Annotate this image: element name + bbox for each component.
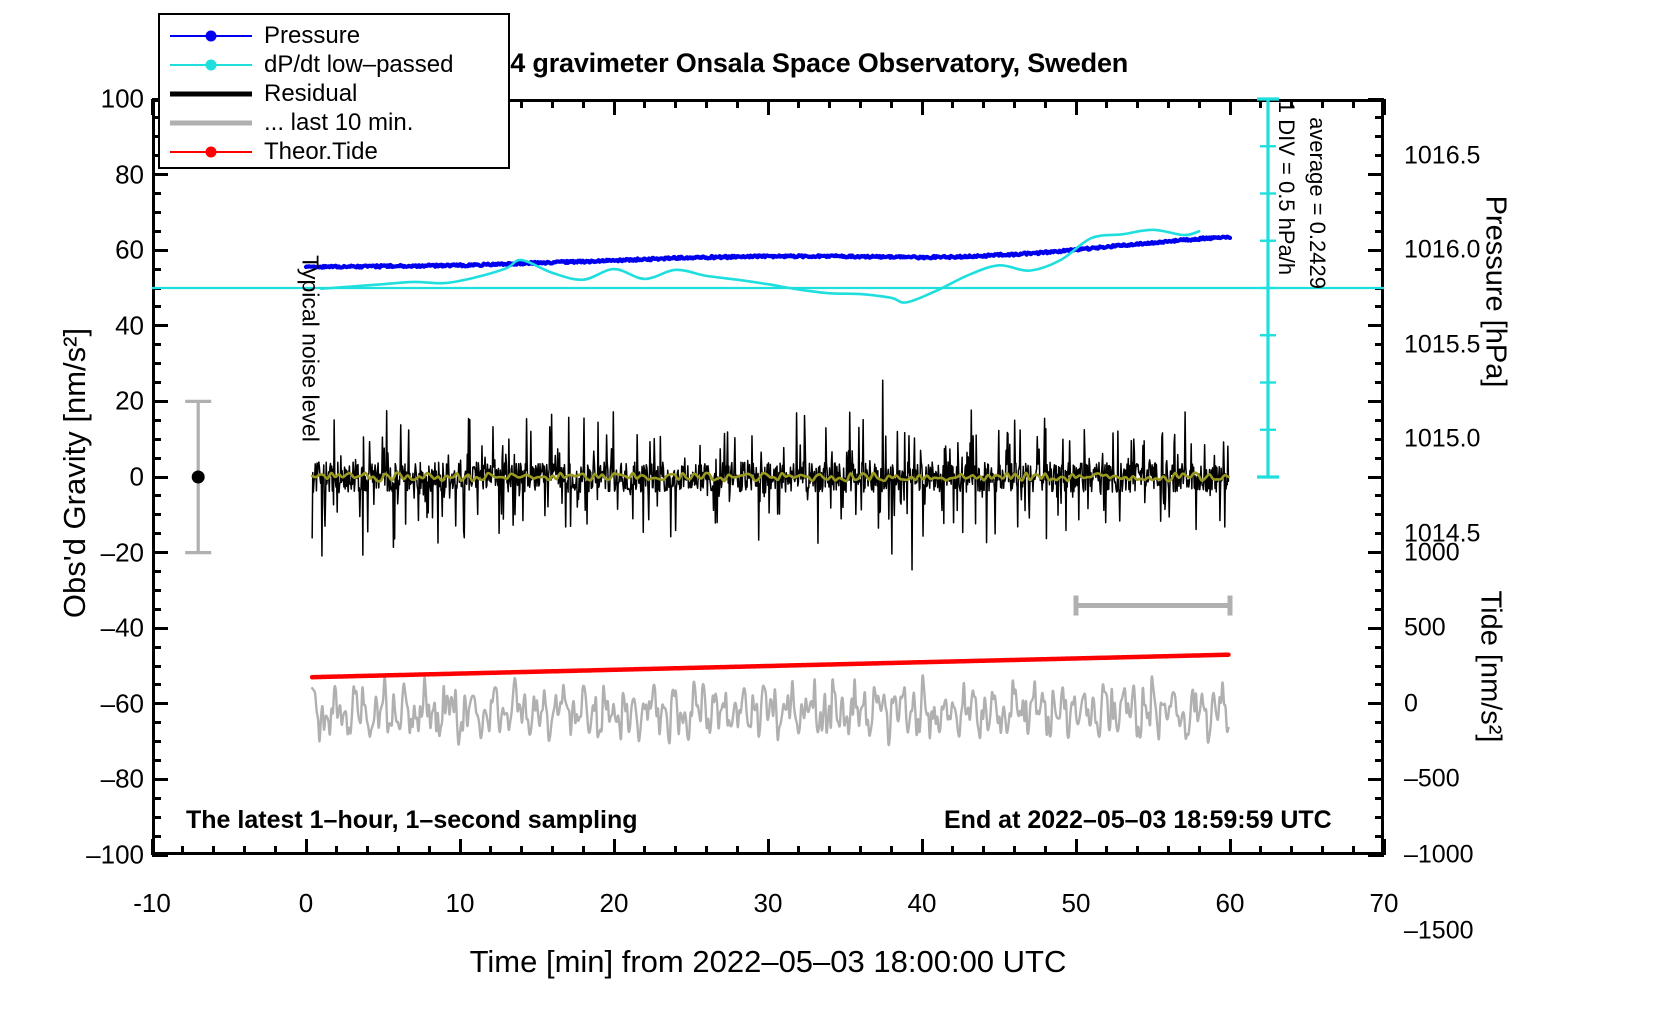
y-tick-label-gravity: –100 xyxy=(24,840,144,871)
legend-swatch xyxy=(170,55,252,75)
legend-label: ... last 10 min. xyxy=(264,111,413,135)
y-tick-label-gravity: –40 xyxy=(24,613,144,644)
x-tick-label: 0 xyxy=(246,888,366,919)
y-tick-label-gravity: 20 xyxy=(24,386,144,417)
y-tick-label-gravity: –60 xyxy=(24,688,144,719)
pressure-curve xyxy=(306,237,1230,268)
y-tick-label-tide: –1000 xyxy=(1404,841,1534,870)
y-tick-label-pressure: 1016.5 xyxy=(1404,141,1534,170)
last-10-min-curve xyxy=(312,675,1228,745)
y-tick-label-pressure: 1015.0 xyxy=(1404,425,1534,454)
y-axis-label-tide: Tide [nm/s²] xyxy=(1474,447,1507,887)
y-tick-label-gravity: 80 xyxy=(24,159,144,190)
y-tick-label-gravity: 60 xyxy=(24,235,144,266)
x-tick-label: 30 xyxy=(708,888,828,919)
y-tick-label-tide: –500 xyxy=(1404,765,1534,794)
x-tick-label: 10 xyxy=(400,888,520,919)
legend-marker-dot xyxy=(206,59,217,70)
y-tick-label-gravity: –20 xyxy=(24,537,144,568)
legend[interactable]: PressuredP/dt low–passedResidual... last… xyxy=(158,13,510,169)
legend-item[interactable]: Theor.Tide xyxy=(170,137,498,166)
theoretical-tide-curve xyxy=(312,655,1228,677)
x-tick-label: 60 xyxy=(1170,888,1290,919)
noise-level-label: Typical noise level xyxy=(297,189,324,509)
y-tick-label-tide: –1500 xyxy=(1404,916,1534,945)
y-tick-label-tide: 0 xyxy=(1404,689,1534,718)
legend-marker-dot xyxy=(206,30,217,41)
x-tick-label: 40 xyxy=(862,888,982,919)
legend-item[interactable]: dP/dt low–passed xyxy=(170,50,498,79)
y-tick-label-gravity: –80 xyxy=(24,764,144,795)
legend-swatch xyxy=(170,84,252,104)
x-tick-label: 70 xyxy=(1324,888,1444,919)
legend-item[interactable]: Pressure xyxy=(170,21,498,50)
x-axis-label: Time [min] from 2022–05–03 18:00:00 UTC xyxy=(152,944,1384,980)
footer-right-text: End at 2022–05–03 18:59:59 UTC xyxy=(944,806,1332,835)
legend-swatch xyxy=(170,113,252,133)
legend-label: dP/dt low–passed xyxy=(264,53,453,77)
chart-page: SCG_054 gravimeter Onsala Space Observat… xyxy=(0,0,1660,1020)
residual-curve xyxy=(312,380,1228,570)
legend-label: Theor.Tide xyxy=(264,140,378,164)
y-tick-label-gravity: 40 xyxy=(24,310,144,341)
legend-swatch xyxy=(170,26,252,46)
legend-swatch xyxy=(170,142,252,162)
plot-data-area xyxy=(152,99,1384,855)
legend-line xyxy=(170,120,252,125)
y-tick-label-tide: 500 xyxy=(1404,614,1534,643)
legend-label: Residual xyxy=(264,82,357,106)
legend-marker-dot xyxy=(206,146,217,157)
y-tick-label-tide: 1000 xyxy=(1404,538,1534,567)
x-tick-label: -10 xyxy=(92,888,212,919)
footer-left-text: The latest 1–hour, 1–second sampling xyxy=(186,806,638,835)
legend-item[interactable]: Residual xyxy=(170,79,498,108)
y-tick-label-pressure: 1015.5 xyxy=(1404,330,1534,359)
legend-label: Pressure xyxy=(264,24,360,48)
pressure-rate-div-label: 1 DIV = 0.5 hPa/h xyxy=(1273,68,1299,308)
data-curves xyxy=(152,99,1384,855)
pressure-rate-average-label: average = 0.2429 xyxy=(1304,83,1330,323)
legend-item[interactable]: ... last 10 min. xyxy=(170,108,498,137)
x-tick-label: 20 xyxy=(554,888,674,919)
x-tick-label: 50 xyxy=(1016,888,1136,919)
y-tick-label-pressure: 1016.0 xyxy=(1404,236,1534,265)
y-tick-label-gravity: 100 xyxy=(24,84,144,115)
y-tick-label-gravity: 0 xyxy=(24,462,144,493)
legend-line xyxy=(170,91,252,96)
